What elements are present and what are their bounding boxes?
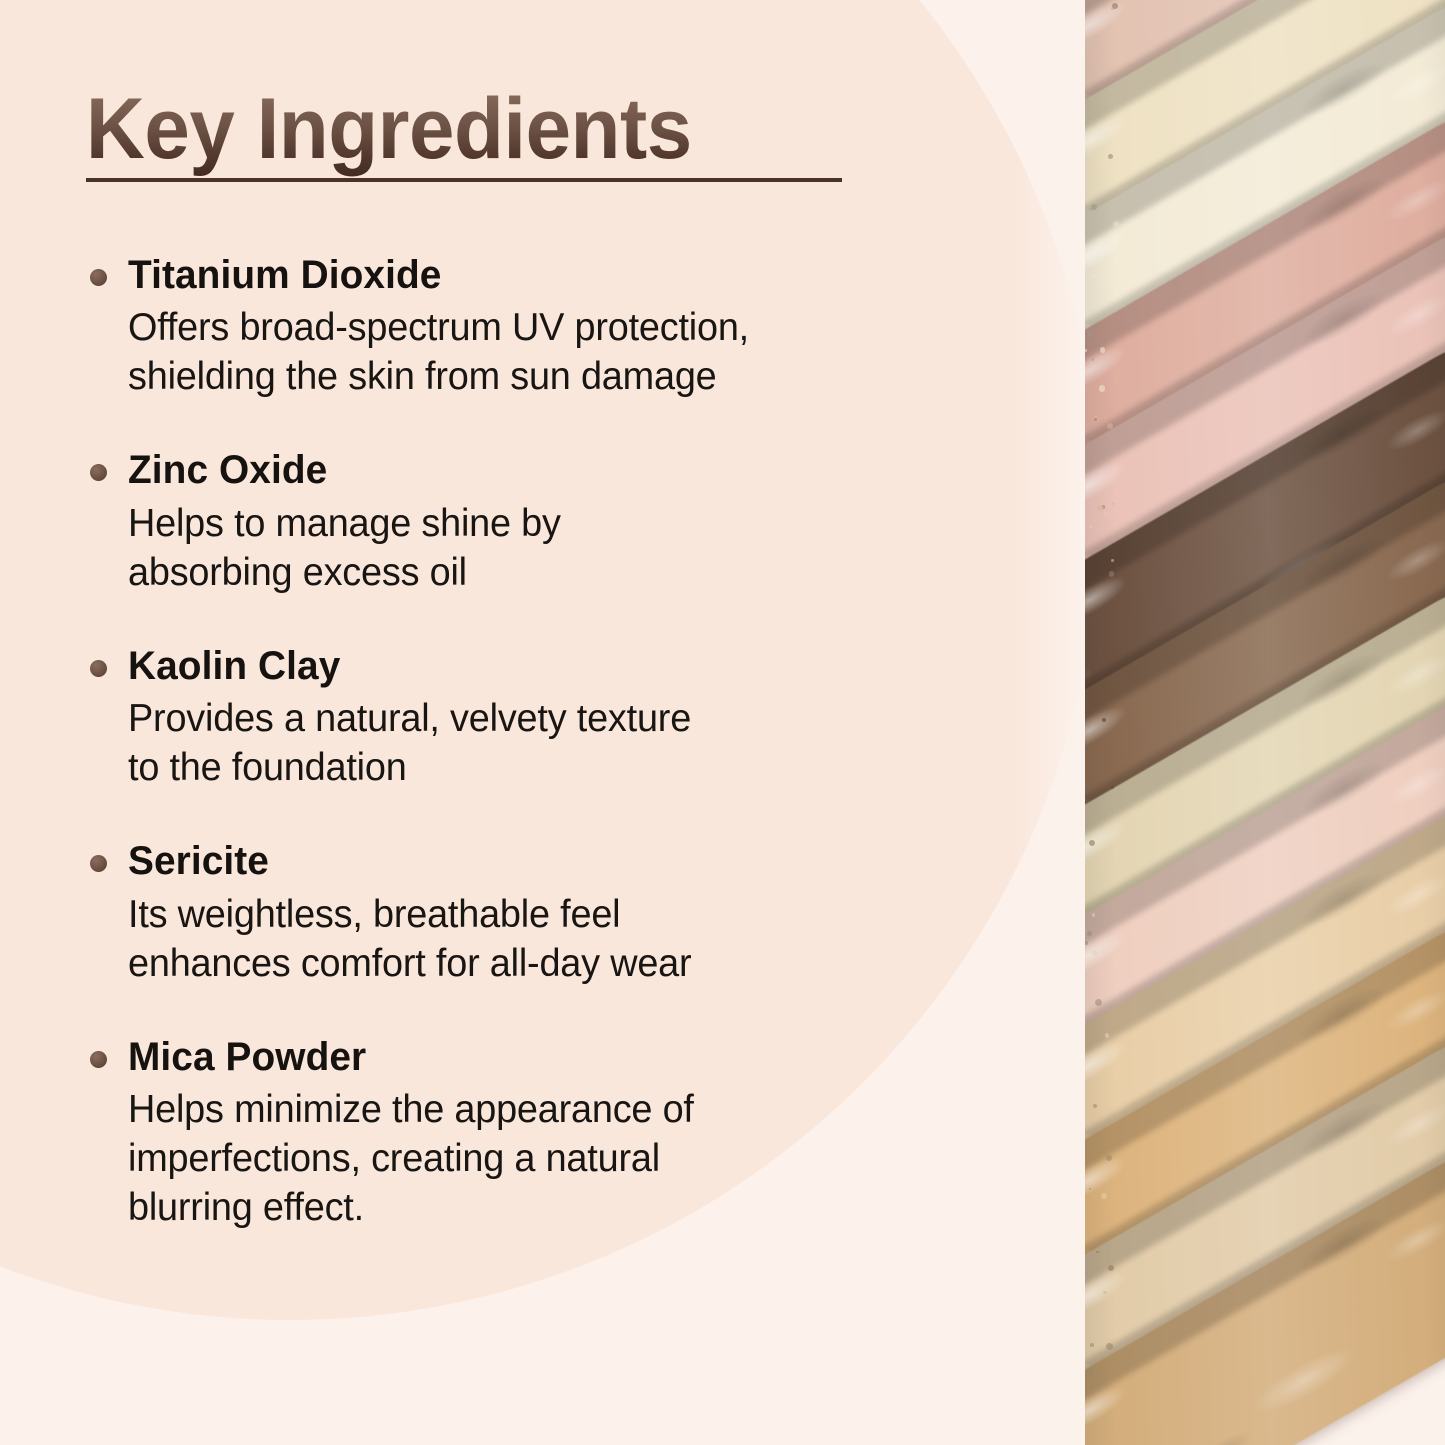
- content-column: Key Ingredients Titanium Dioxide Offers …: [0, 0, 1000, 1445]
- powder-dust-speck: [1102, 718, 1106, 722]
- ingredient-description: Helps to manage shine by absorbing exces…: [128, 499, 958, 597]
- ingredient-name: Sericite: [128, 838, 958, 885]
- ingredient-description: Its weightless, breathable feel enhances…: [128, 890, 958, 988]
- powder-dust-speck: [1085, 941, 1088, 945]
- list-item: Kaolin Clay Provides a natural, velvety …: [84, 643, 984, 792]
- list-item: Zinc Oxide Helps to manage shine by abso…: [84, 447, 984, 596]
- powder-dust-speck: [1095, 999, 1102, 1006]
- list-item: Mica Powder Helps minimize the appearanc…: [84, 1034, 984, 1233]
- ingredient-name: Mica Powder: [128, 1034, 958, 1081]
- bullet-icon: [90, 855, 107, 872]
- powder-dust-speck: [1100, 347, 1105, 352]
- powder-dust-speck: [1103, 1291, 1107, 1295]
- powder-dust-speck: [1088, 332, 1092, 336]
- powder-dust-speck: [1098, 647, 1101, 650]
- powder-dust-speck: [1101, 1193, 1107, 1199]
- powder-dust-speck: [1091, 204, 1097, 210]
- title-underline: [86, 178, 842, 182]
- ingredient-name: Kaolin Clay: [128, 643, 958, 690]
- ingredient-description: Provides a natural, velvety texture to t…: [128, 694, 958, 792]
- powder-dust-speck: [1111, 559, 1113, 561]
- powder-dust-speck: [1094, 418, 1097, 421]
- powder-dust-speck: [1097, 505, 1103, 511]
- powder-dust-speck: [1106, 1155, 1112, 1161]
- powder-dust-speck: [1099, 385, 1105, 391]
- powder-dust-speck: [1104, 512, 1109, 517]
- ingredient-name: Zinc Oxide: [128, 447, 958, 494]
- bullet-icon: [90, 269, 107, 286]
- powder-dust-speck: [1105, 1033, 1109, 1037]
- powder-dust-speck: [1112, 758, 1115, 761]
- powder-swatch-image: [1085, 0, 1445, 1445]
- powder-dust-speck: [1105, 1224, 1107, 1226]
- powder-dust-speck: [1085, 349, 1087, 352]
- ingredient-description: Helps minimize the appearance of imperfe…: [128, 1085, 958, 1232]
- powder-dust-speck: [1111, 786, 1114, 789]
- page-title-text: Key Ingredients: [84, 86, 694, 178]
- page-title: Key Ingredients: [84, 86, 726, 178]
- powder-dust-speck: [1092, 950, 1098, 956]
- powder-dust-speck: [1106, 1343, 1113, 1350]
- powder-bands: [1085, 0, 1445, 1445]
- bullet-icon: [90, 1051, 107, 1068]
- bullet-icon: [90, 464, 107, 481]
- list-item: Titanium Dioxide Offers broad-spectrum U…: [84, 252, 984, 401]
- powder-dust-speck: [1111, 7, 1114, 10]
- powder-dust-speck: [1093, 1104, 1097, 1108]
- powder-dust-speck: [1092, 358, 1094, 360]
- bullet-icon: [90, 660, 107, 677]
- powder-dust-speck: [1090, 1343, 1094, 1347]
- ingredient-description: Offers broad-spectrum UV protection, shi…: [128, 303, 958, 401]
- ingredient-name: Titanium Dioxide: [128, 252, 958, 299]
- powder-dust-speck: [1093, 655, 1096, 658]
- key-ingredients-graphic: Key Ingredients Titanium Dioxide Offers …: [0, 0, 1445, 1445]
- list-item: Sericite Its weightless, breathable feel…: [84, 838, 984, 987]
- ingredients-list: Titanium Dioxide Offers broad-spectrum U…: [84, 252, 984, 1232]
